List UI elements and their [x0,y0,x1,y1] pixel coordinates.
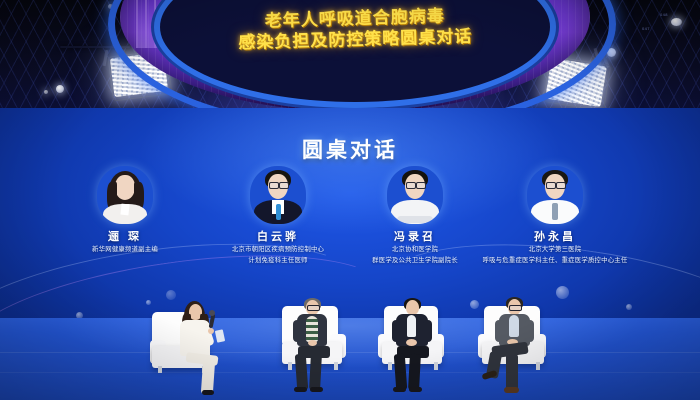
host-hand [208,328,214,334]
guest-shoe [504,387,519,393]
armchair-leg [434,362,438,370]
guest-glasses [509,305,522,311]
guest-inner-shirt [306,316,318,342]
panelist-affiliation-2: 呼吸与危重症医学科主任、重症医学质控中心主任 [480,256,630,266]
mobile-phone [215,329,225,342]
guest-shoe [294,387,307,392]
ceiling-fixture-tag: 048 [660,12,668,17]
host-portrait [97,166,153,224]
panelist-card-row: 逦 琛 新华网健康频道副主编 白云骅 北京市朝阳区疾病预防控制中心 计划免疫科主… [0,166,700,271]
armchair-leg [334,362,338,370]
portrait-glasses [406,182,416,189]
armchair-leg [288,362,292,370]
panelist-affiliation: 北京市朝阳区疾病预防控制中心 [203,245,353,255]
guest-portrait-bai [250,166,306,224]
guest-shoe-crossed [481,370,497,380]
panelist-card: 白云骅 北京市朝阳区疾病预防控制中心 计划免疫科主任医师 [203,166,353,265]
guest-head [406,300,419,315]
guest-arm [293,320,302,342]
guest-arm [495,320,504,342]
portrait-face [115,175,135,200]
guest-seated-3 [476,296,596,400]
guest-leg [408,354,421,391]
page-title: 圆桌对话 [0,134,700,164]
portrait-crossed-arms [397,216,433,223]
panelist-card: 孙永昌 北京大学第三医院 呼吸与危重症医学科主任、重症医学质控中心主任 [480,166,630,265]
portrait-collar [120,204,129,216]
guest-portrait-feng [387,166,443,224]
guest-leg [309,354,322,391]
panelist-affiliation: 新华网健康频道副主编 [50,245,200,255]
guest-arm [525,320,534,342]
ceiling-spotlight [671,18,682,26]
portrait-glasses [269,182,279,189]
portrait-glasses [416,182,426,189]
ceiling-fixture-tag: 047 [642,26,650,31]
guest-inner-shirt [509,315,519,337]
panelist-name: 白云骅 [203,228,353,244]
portrait-glasses [546,182,556,189]
portrait-tie [276,204,281,220]
ceiling-spotlight [44,90,48,94]
panelist-name: 孙永昌 [480,228,630,244]
portrait-glasses [556,182,566,189]
host-seated [150,300,260,400]
guest-portrait-sun [527,166,583,224]
guest-hand [406,339,417,346]
panelist-affiliation-2: 计划免疫科主任医师 [203,256,353,266]
armchair-leg [536,362,540,370]
armchair-leg [388,362,392,370]
guest-arm [423,320,432,342]
panelist-affiliation: 北京协和医学院 [340,245,490,255]
guest-shoe [310,387,323,392]
guest-leg [506,354,518,390]
armchair-leg [158,366,162,373]
portrait-tie [552,203,558,220]
panelist-name: 逦 琛 [50,228,200,244]
guest-shoe [409,387,422,392]
guest-arm [392,320,401,342]
guest-glasses [307,305,320,311]
guest-shoe [393,387,406,392]
wall-bokeh-dot [166,290,176,300]
microphone-head [209,310,215,316]
panelist-card: 冯录召 北京协和医学院 群医学及公共卫生学院副院长 [340,166,490,265]
broadcast-stage-photo: 035 036 047 048 老年人呼吸道合胞病毒 感染负担及防控策略圆桌对话… [0,0,700,400]
panelist-card: 逦 琛 新华网健康频道副主编 [50,166,200,256]
panelist-name: 冯录召 [340,228,490,244]
portrait-glasses [279,182,289,189]
guest-seated-1 [278,296,388,400]
panelist-affiliation-2: 群医学及公共卫生学院副院长 [340,256,490,266]
guest-inner-shirt [407,315,416,337]
guest-seated-2 [378,296,488,400]
wall-bokeh-dot [626,304,632,310]
ceiling-spotlight [56,85,64,93]
panelist-affiliation: 北京大学第三医院 [480,245,630,255]
host-shoe [202,390,214,395]
